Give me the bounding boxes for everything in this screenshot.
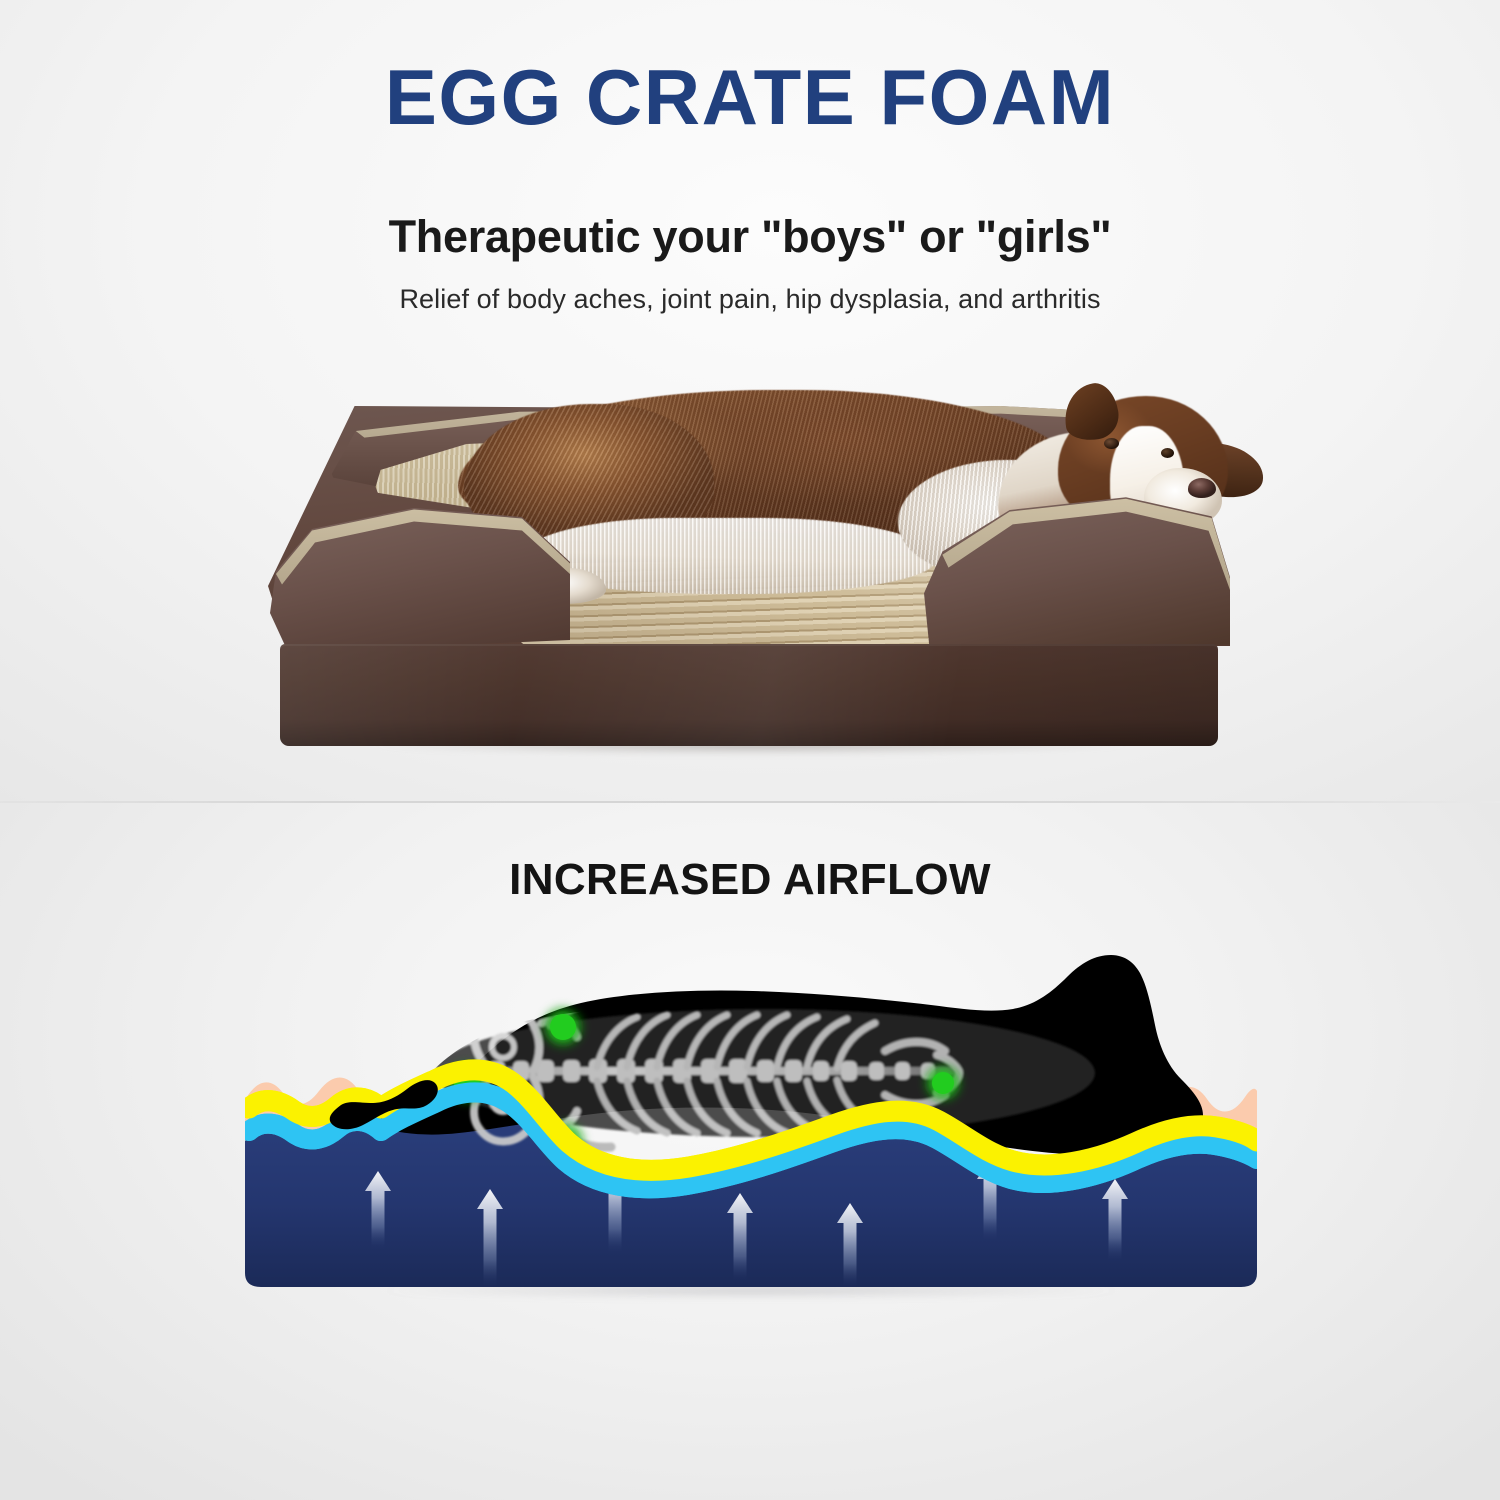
bed-base-sheen xyxy=(280,644,1218,746)
dog-nose xyxy=(1188,478,1216,498)
egg-crate-foam-panel: EGG CRATE FOAM Therapeutic your "boys" o… xyxy=(0,0,1500,803)
dog-silhouette-with-xray xyxy=(340,955,1203,1162)
airflow-cross-section-diagram xyxy=(245,955,1257,1295)
dog-eye-left xyxy=(1104,438,1119,449)
infographic-page: EGG CRATE FOAM Therapeutic your "boys" o… xyxy=(0,0,1500,1500)
section-title-airflow: INCREASED AIRFLOW xyxy=(0,855,1500,905)
product-photo-dog-bed xyxy=(258,382,1248,764)
dog-eye-right xyxy=(1161,448,1174,458)
page-title: EGG CRATE FOAM xyxy=(0,57,1500,139)
subheadline-text: Relief of body aches, joint pain, hip dy… xyxy=(0,284,1500,315)
headline-text: Therapeutic your "boys" or "girls" xyxy=(0,211,1500,263)
